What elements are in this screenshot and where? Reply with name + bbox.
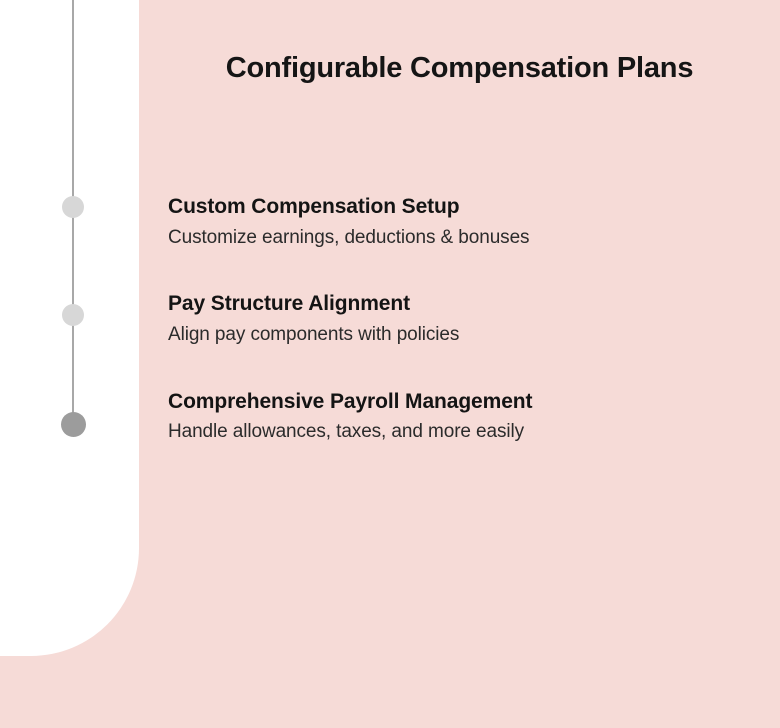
slide-content: Configurable Compensation Plans Custom C…: [139, 0, 780, 728]
feature-description: Handle allowances, taxes, and more easil…: [168, 418, 768, 446]
timeline-dot-1[interactable]: [62, 196, 84, 218]
timeline-rail: [0, 0, 139, 656]
page-title: Configurable Compensation Plans: [139, 52, 780, 85]
feature-description: Align pay components with policies: [168, 321, 768, 349]
timeline-dot-3[interactable]: [61, 412, 86, 437]
feature-heading: Custom Compensation Setup: [168, 193, 768, 221]
list-item: Comprehensive Payroll Management Handle …: [168, 388, 768, 446]
list-item: Custom Compensation Setup Customize earn…: [168, 193, 768, 251]
feature-heading: Pay Structure Alignment: [168, 290, 768, 318]
feature-list: Custom Compensation Setup Customize earn…: [168, 193, 768, 446]
feature-description: Customize earnings, deductions & bonuses: [168, 224, 768, 252]
feature-heading: Comprehensive Payroll Management: [168, 388, 768, 416]
slide-canvas: Configurable Compensation Plans Custom C…: [0, 0, 780, 728]
timeline-dot-2[interactable]: [62, 304, 84, 326]
list-item: Pay Structure Alignment Align pay compon…: [168, 290, 768, 348]
